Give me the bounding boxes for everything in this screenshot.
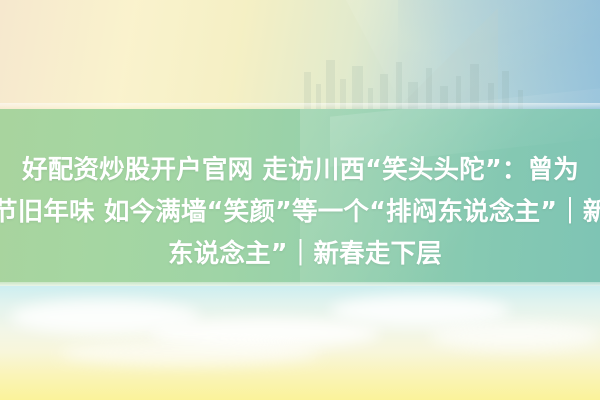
cloud-shape (430, 322, 600, 350)
screenshot-canvas: 好配资炒股开户官网 走访川西“笑头头陀”：曾为 节旧年味 如今满墙“笑颜”等一个… (0, 0, 600, 400)
cloud-shape (330, 296, 510, 326)
cloud-shape (60, 340, 320, 366)
background-band-middle (0, 109, 600, 286)
